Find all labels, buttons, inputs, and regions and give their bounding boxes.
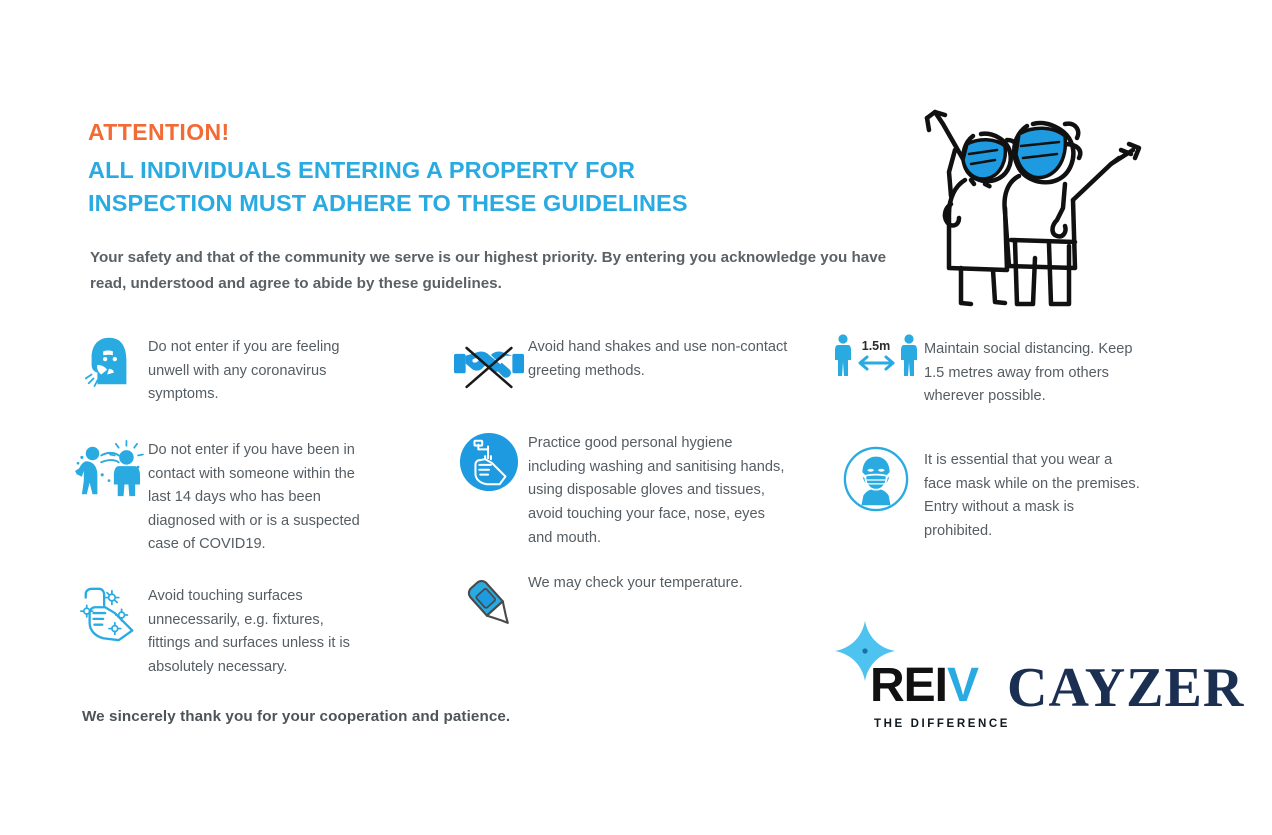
guidelines-column-2: Avoid hand shakes and use non-contact gr…	[450, 330, 810, 656]
reiv-wordmark: REIV	[870, 662, 978, 710]
logo-lockup: REIV THE DIFFERENCE CAYZER	[822, 612, 1252, 742]
person-to-person-transmission-icon	[70, 433, 148, 505]
no-handshake-icon	[450, 330, 528, 402]
face-mask-person-icon	[828, 443, 924, 515]
guidelines-column-3: 1.5m Maintain social distancing. Keep 1.…	[828, 330, 1168, 561]
reiv-tagline: THE DIFFERENCE	[874, 718, 1010, 730]
guideline-text: Do not enter if you have been in contact…	[148, 433, 366, 557]
intro-paragraph: Your safety and that of the community we…	[90, 245, 908, 297]
main-headline: ALL INDIVIDUALS ENTERING A PROPERTY FOR …	[88, 154, 918, 221]
headline-line-1: ALL INDIVIDUALS ENTERING A PROPERTY FOR	[88, 154, 918, 187]
attention-heading: ATTENTION!	[88, 118, 918, 148]
guidelines-column-1: Do not enter if you are feeling unwell w…	[70, 330, 400, 698]
guideline-text: Practice good personal hygiene including…	[528, 426, 790, 550]
guideline-item: Avoid touching surfaces unnecessarily, e…	[70, 579, 400, 680]
guideline-item: Do not enter if you have been in contact…	[70, 433, 400, 557]
guideline-text: Avoid touching surfaces unnecessarily, e…	[148, 579, 366, 680]
guideline-item: Do not enter if you are feeling unwell w…	[70, 330, 400, 407]
reiv-wordmark-prefix: REI	[870, 659, 947, 712]
guideline-item: 1.5m Maintain social distancing. Keep 1.…	[828, 330, 1168, 409]
guideline-item: Avoid hand shakes and use non-contact gr…	[450, 330, 810, 402]
guideline-text: Maintain social distancing. Keep 1.5 met…	[924, 330, 1142, 409]
two-people-wearing-masks-arms-raised-sketch	[915, 88, 1155, 313]
guideline-item: We may check your temperature.	[450, 566, 810, 638]
thermometer-icon	[450, 566, 528, 638]
guideline-text: Do not enter if you are feeling unwell w…	[148, 330, 366, 407]
poster-header: ATTENTION! ALL INDIVIDUALS ENTERING A PR…	[88, 118, 918, 221]
reiv-wordmark-accent: V	[947, 659, 978, 712]
guideline-item: It is essential that you wear a face mas…	[828, 443, 1168, 544]
cayzer-wordmark: CAYZER	[1007, 660, 1244, 716]
distance-label: 1.5m	[862, 339, 891, 353]
hand-washing-icon	[450, 426, 528, 498]
thank-you-message: We sincerely thank you for your cooperat…	[82, 708, 510, 725]
guideline-text: Avoid hand shakes and use non-contact gr…	[528, 330, 790, 383]
guideline-text: It is essential that you wear a face mas…	[924, 443, 1142, 544]
headline-line-2: INSPECTION MUST ADHERE TO THESE GUIDELIN…	[88, 187, 918, 220]
guideline-text: We may check your temperature.	[528, 566, 790, 596]
guideline-item: Practice good personal hygiene including…	[450, 426, 810, 550]
person-coughing-icon	[70, 330, 148, 404]
social-distancing-icon: 1.5m	[828, 330, 924, 404]
covid-safety-poster: ATTENTION! ALL INDIVIDUALS ENTERING A PR…	[0, 0, 1272, 835]
hand-touching-door-handle-icon	[70, 579, 148, 651]
